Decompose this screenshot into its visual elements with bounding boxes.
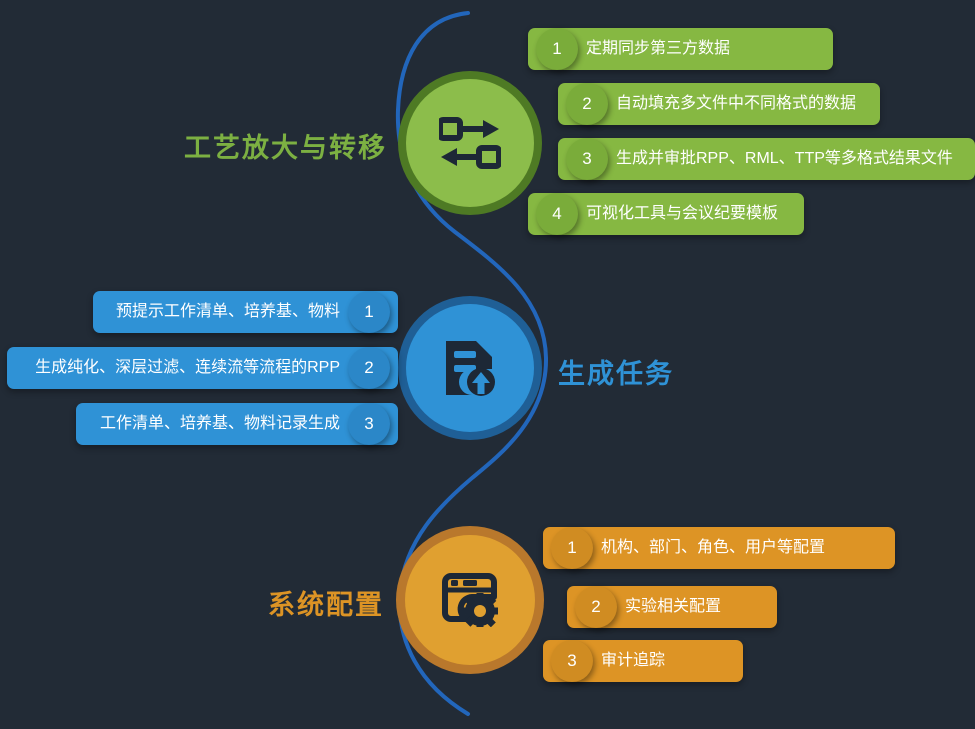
list-item[interactable]: 2 自动填充多文件中不同格式的数据 [558, 83, 880, 125]
list-item[interactable]: 4 可视化工具与会议纪要模板 [528, 193, 804, 235]
item-badge: 1 [348, 291, 390, 333]
document-upload-icon [442, 339, 498, 397]
node-circle-system-config[interactable] [396, 526, 544, 674]
node-inner-process-scale-up [406, 79, 534, 207]
list-item[interactable]: 2 实验相关配置 [567, 586, 777, 628]
item-badge: 4 [536, 193, 578, 235]
item-label: 生成并审批RPP、RML、TTP等多格式结果文件 [616, 151, 953, 167]
item-badge: 1 [551, 527, 593, 569]
section-title-process-scale-up: 工艺放大与转移 [184, 126, 387, 165]
item-badge: 1 [536, 28, 578, 70]
list-item[interactable]: 预提示工作清单、培养基、物料 1 [93, 291, 398, 333]
item-label: 生成纯化、深层过滤、连续流等流程的RPP [35, 360, 340, 376]
list-item[interactable]: 3 审计追踪 [543, 640, 743, 682]
item-badge: 2 [348, 347, 390, 389]
list-item[interactable]: 3 生成并审批RPP、RML、TTP等多格式结果文件 [558, 138, 975, 180]
item-badge: 3 [566, 138, 608, 180]
list-item[interactable]: 工作清单、培养基、物料记录生成 3 [76, 403, 398, 445]
item-badge: 2 [575, 586, 617, 628]
item-label: 机构、部门、角色、用户等配置 [601, 540, 825, 556]
item-badge: 2 [566, 83, 608, 125]
infographic-canvas: 工艺放大与转移 1 定期同步第三方数据 2 自动填充多文件中不同格式的数据 3 … [0, 0, 975, 729]
list-item[interactable]: 生成纯化、深层过滤、连续流等流程的RPP 2 [7, 347, 398, 389]
item-label: 自动填充多文件中不同格式的数据 [616, 96, 856, 112]
list-item[interactable]: 1 机构、部门、角色、用户等配置 [543, 527, 895, 569]
list-item[interactable]: 1 定期同步第三方数据 [528, 28, 833, 70]
item-label: 实验相关配置 [625, 599, 721, 615]
item-label: 预提示工作清单、培养基、物料 [116, 304, 340, 320]
item-label: 可视化工具与会议纪要模板 [586, 206, 778, 222]
item-label: 定期同步第三方数据 [586, 41, 730, 57]
node-circle-generate-task[interactable] [398, 296, 542, 440]
node-inner-system-config [405, 535, 535, 665]
item-label: 工作清单、培养基、物料记录生成 [100, 416, 340, 432]
section-title-generate-task: 生成任务 [558, 352, 674, 391]
item-label: 审计追踪 [601, 653, 665, 669]
item-badge: 3 [348, 403, 390, 445]
section-title-system-config: 系统配置 [268, 583, 384, 622]
window-gear-icon [442, 573, 498, 627]
node-inner-generate-task [406, 304, 534, 432]
node-circle-process-scale-up[interactable] [398, 71, 542, 215]
transfer-arrows-icon [439, 117, 501, 169]
item-badge: 3 [551, 640, 593, 682]
